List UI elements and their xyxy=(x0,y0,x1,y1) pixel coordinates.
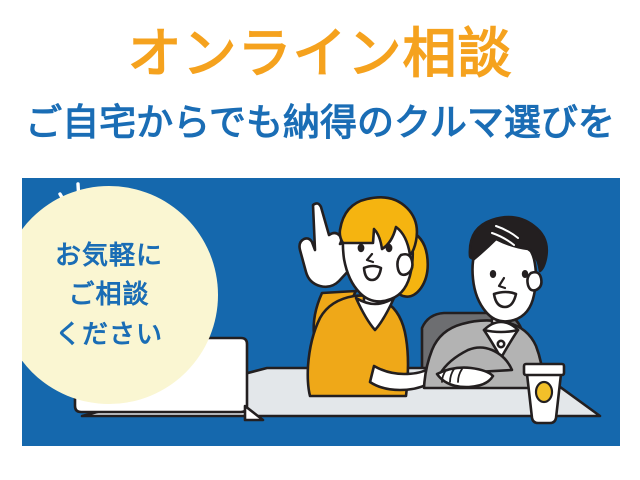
man-left-eye xyxy=(490,270,496,278)
coffee-cup-logo-icon xyxy=(536,382,552,402)
illustration-banner: お気軽に ご相談 ください xyxy=(22,178,620,446)
badge-line-3: ください xyxy=(55,315,163,355)
man-right-eye xyxy=(522,270,528,278)
coffee-cup-lid-shape xyxy=(524,364,564,375)
badge-text-block: お気軽に ご相談 ください xyxy=(22,186,218,404)
badge-line-1: お気軽に xyxy=(55,236,163,276)
woman-left-eye xyxy=(358,244,365,252)
page-title: オンライン相談 xyxy=(0,26,640,83)
headline-block: オンライン相談 ご自宅からでも納得のクルマ選びを xyxy=(0,0,640,170)
man-ear-shape xyxy=(527,272,541,290)
woman-mouth xyxy=(364,266,381,280)
page-subtitle: ご自宅からでも納得のクルマ選びを xyxy=(0,104,640,143)
woman-right-eye xyxy=(386,244,393,252)
woman-ear-shape xyxy=(397,254,412,275)
badge-line-2: ご相談 xyxy=(68,275,149,315)
promo-banner-page: オンライン相談 ご自宅からでも納得のクルマ選びを xyxy=(0,0,640,480)
man-shirt-button xyxy=(498,341,504,347)
